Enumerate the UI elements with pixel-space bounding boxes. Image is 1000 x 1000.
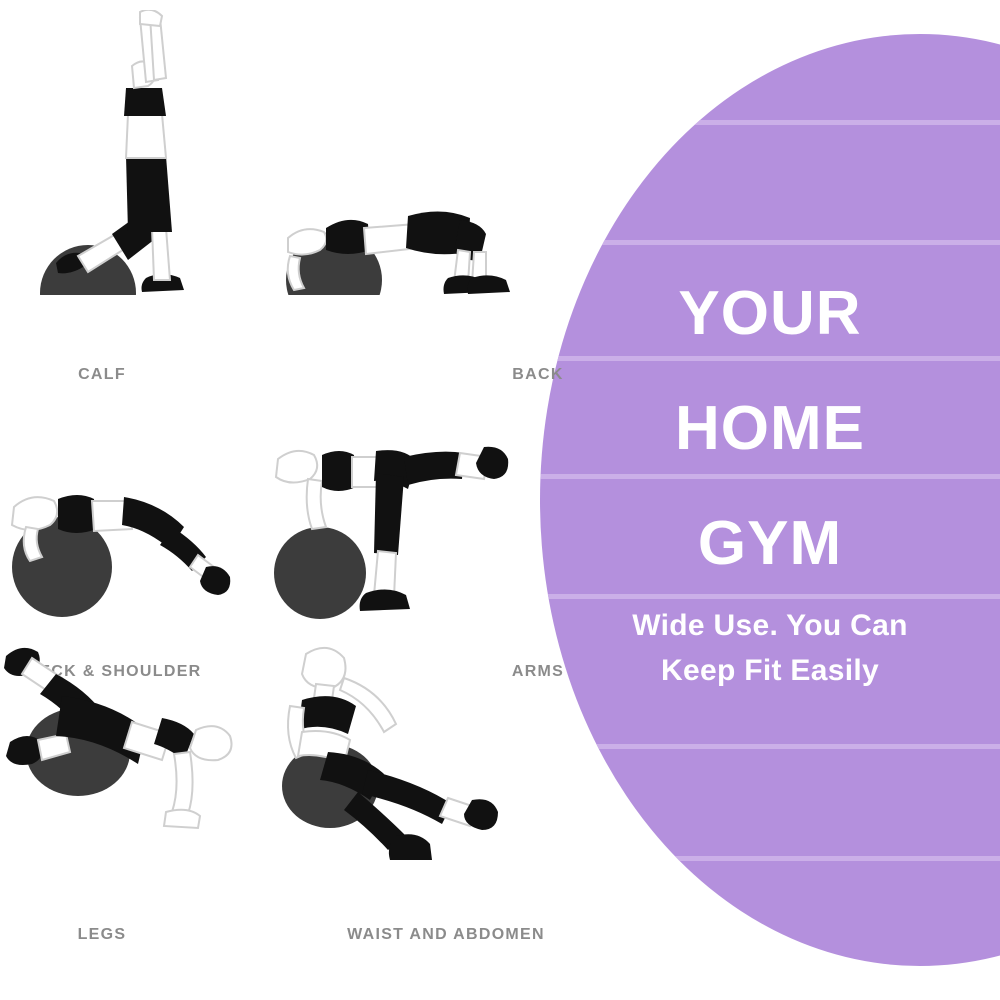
exercise-item-arms: ARMS — [272, 345, 544, 678]
exercise-item-back: BACK — [272, 10, 544, 343]
promo-panel — [540, 34, 1000, 966]
panel-stripe — [540, 120, 1000, 125]
neck-shoulder-exercise-icon — [0, 345, 272, 630]
infographic-canvas: YOUR HOME GYM Wide Use. You Can Keep Fit… — [0, 0, 1000, 1000]
exercise-item-legs: LEGS — [0, 640, 272, 973]
exercise-label-legs: LEGS — [0, 926, 238, 944]
arms-exercise-icon — [272, 345, 544, 630]
panel-stripe — [540, 856, 1000, 861]
exercise-item-neck-shoulder: NECK & SHOULDER — [0, 345, 272, 678]
panel-stripe — [540, 744, 1000, 749]
exercise-item-waist-abdomen: WAIST AND ABDOMEN — [272, 640, 544, 973]
exercise-grid: CALF — [0, 0, 545, 1000]
panel-stripe — [540, 594, 1000, 599]
panel-stripe — [540, 356, 1000, 361]
back-exercise-icon — [272, 10, 544, 295]
legs-exercise-icon — [0, 640, 272, 925]
panel-stripe — [540, 240, 1000, 245]
calf-exercise-icon — [0, 10, 272, 295]
exercise-item-calf: CALF — [0, 10, 272, 343]
waist-abdomen-exercise-icon — [272, 640, 544, 925]
panel-stripe — [540, 474, 1000, 479]
exercise-label-waist-abdomen: WAIST AND ABDOMEN — [310, 926, 582, 944]
